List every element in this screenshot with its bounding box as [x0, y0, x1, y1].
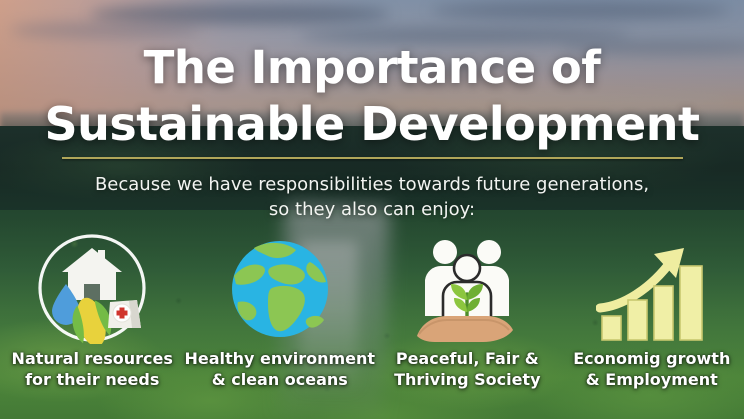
- pillar-caption: Healthy environment & clean oceans: [184, 348, 375, 390]
- caption-line-2: & clean oceans: [184, 369, 375, 390]
- growth-bar-chart-icon: [596, 232, 708, 344]
- caption-line-1: Peaceful, Fair &: [394, 348, 540, 369]
- pillar-caption: Peaceful, Fair & Thriving Society: [394, 348, 540, 390]
- infographic-poster: The Importance of Sustainable Developmen…: [0, 0, 744, 419]
- globe-icon: [224, 232, 336, 344]
- poster-title: The Importance of Sustainable Developmen…: [0, 40, 744, 152]
- subtitle-line-1: Because we have responsibilities towards…: [0, 172, 744, 197]
- caption-line-1: Economig growth: [573, 348, 730, 369]
- family-plant-in-hand-icon: [411, 232, 523, 344]
- natural-resources-glyph: [36, 232, 148, 344]
- caption-line-1: Natural resources: [12, 348, 173, 369]
- caption-line-2: for their needs: [12, 369, 173, 390]
- caption-line-1: Healthy environment: [184, 348, 375, 369]
- globe-glyph: [224, 232, 336, 344]
- pillar-natural-resources: Natural resources for their needs: [0, 232, 184, 419]
- caption-line-2: & Employment: [573, 369, 730, 390]
- natural-resources-icon: [36, 232, 148, 344]
- title-divider: [62, 157, 683, 159]
- title-line-2: Sustainable Development: [0, 96, 744, 152]
- poster-subtitle: Because we have responsibilities towards…: [0, 172, 744, 222]
- pillar-peaceful-society: Peaceful, Fair & Thriving Society: [375, 232, 559, 419]
- pillar-row: Natural resources for their needs: [0, 232, 744, 419]
- pillar-economic-growth: Economig growth & Employment: [560, 232, 744, 419]
- pillar-caption: Economig growth & Employment: [573, 348, 730, 390]
- pillar-healthy-environment: Healthy environment & clean oceans: [184, 232, 375, 419]
- subtitle-line-2: so they also can enjoy:: [0, 197, 744, 222]
- family-plant-glyph: [411, 232, 523, 344]
- title-line-1: The Importance of: [0, 40, 744, 96]
- growth-chart-glyph: [596, 232, 708, 344]
- pillar-caption: Natural resources for their needs: [12, 348, 173, 390]
- caption-line-2: Thriving Society: [394, 369, 540, 390]
